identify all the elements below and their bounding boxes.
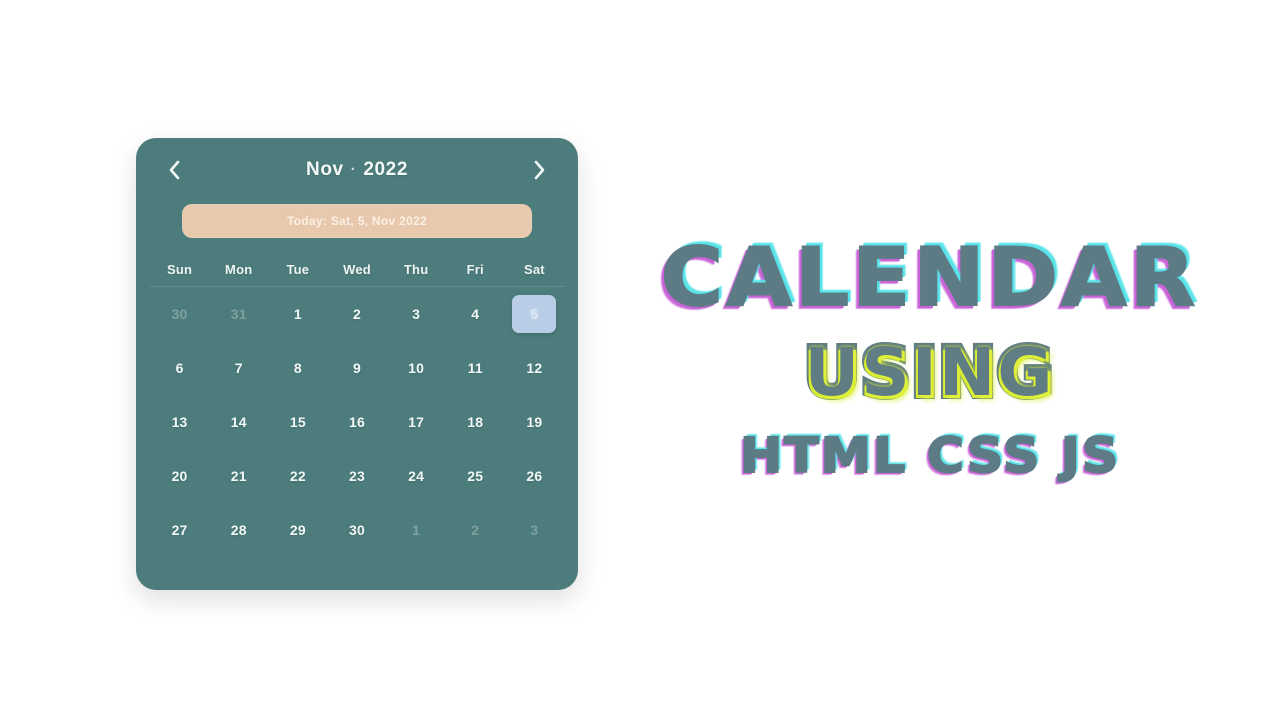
day-cell[interactable]: 24 (387, 449, 446, 503)
day-number: 31 (217, 295, 261, 333)
day-number: 29 (276, 511, 320, 549)
title-calendar: CALENDAR (661, 238, 1199, 318)
day-number: 16 (335, 403, 379, 441)
day-cell[interactable]: 12 (505, 341, 564, 395)
title-using: USING (805, 340, 1055, 406)
day-number: 24 (394, 457, 438, 495)
day-cell[interactable]: 9 (327, 341, 386, 395)
day-number: 5 (512, 295, 556, 333)
day-number: 19 (512, 403, 556, 441)
day-number: 23 (335, 457, 379, 495)
day-cell[interactable]: 15 (268, 395, 327, 449)
day-cell[interactable]: 30 (150, 287, 209, 341)
day-cell[interactable]: 3 (387, 287, 446, 341)
day-cell[interactable]: 22 (268, 449, 327, 503)
day-cell[interactable]: 1 (387, 503, 446, 557)
day-number: 17 (394, 403, 438, 441)
month-label: Nov (306, 159, 344, 181)
day-number: 22 (276, 457, 320, 495)
month-year-separator: · (351, 161, 357, 178)
title-tech-stack: HTML CSS JS (740, 432, 1120, 480)
day-cell[interactable]: 28 (209, 503, 268, 557)
prev-month-button[interactable] (160, 156, 188, 184)
day-number: 13 (158, 403, 202, 441)
day-number: 3 (394, 295, 438, 333)
day-cell[interactable]: 19 (505, 395, 564, 449)
day-number: 30 (158, 295, 202, 333)
day-cell[interactable]: 2 (327, 287, 386, 341)
day-number: 12 (512, 349, 556, 387)
day-number: 25 (453, 457, 497, 495)
day-number: 6 (158, 349, 202, 387)
day-cell[interactable]: 31 (209, 287, 268, 341)
day-cell[interactable]: 21 (209, 449, 268, 503)
day-number: 11 (453, 349, 497, 387)
weekday-fri: Fri (446, 262, 505, 277)
day-number: 4 (453, 295, 497, 333)
day-number: 3 (512, 511, 556, 549)
day-cell[interactable]: 26 (505, 449, 564, 503)
day-cell[interactable]: 3 (505, 503, 564, 557)
day-cell[interactable]: 27 (150, 503, 209, 557)
weekday-header-row: Sun Mon Tue Wed Thu Fri Sat (150, 262, 564, 287)
day-cell[interactable]: 30 (327, 503, 386, 557)
day-number: 30 (335, 511, 379, 549)
day-number: 8 (276, 349, 320, 387)
day-number: 2 (335, 295, 379, 333)
chevron-left-icon (167, 159, 181, 181)
day-number: 7 (217, 349, 261, 387)
day-number: 20 (158, 457, 202, 495)
day-cell[interactable]: 4 (446, 287, 505, 341)
day-cell[interactable]: 13 (150, 395, 209, 449)
day-cell[interactable]: 23 (327, 449, 386, 503)
day-cell[interactable]: 25 (446, 449, 505, 503)
title-block: CALENDAR USING HTML CSS JS (620, 238, 1240, 558)
day-cell[interactable]: 7 (209, 341, 268, 395)
calendar-card: Nov · 2022 Today: Sat, 5, Nov 2022 Sun M… (136, 138, 578, 590)
chevron-right-icon (533, 159, 547, 181)
weekday-mon: Mon (209, 262, 268, 277)
day-number: 18 (453, 403, 497, 441)
day-cell[interactable]: 18 (446, 395, 505, 449)
day-number: 1 (276, 295, 320, 333)
day-cell[interactable]: 11 (446, 341, 505, 395)
day-cell[interactable]: 2 (446, 503, 505, 557)
day-cell[interactable]: 20 (150, 449, 209, 503)
day-cell[interactable]: 29 (268, 503, 327, 557)
next-month-button[interactable] (526, 156, 554, 184)
month-year-label: Nov · 2022 (306, 159, 408, 181)
weekday-thu: Thu (387, 262, 446, 277)
weekday-tue: Tue (268, 262, 327, 277)
day-number: 26 (512, 457, 556, 495)
day-number: 9 (335, 349, 379, 387)
year-label: 2022 (363, 159, 408, 181)
day-cell[interactable]: 8 (268, 341, 327, 395)
day-number: 27 (158, 511, 202, 549)
weekday-sat: Sat (505, 262, 564, 277)
day-number: 21 (217, 457, 261, 495)
day-cell[interactable]: 1 (268, 287, 327, 341)
day-cell[interactable]: 16 (327, 395, 386, 449)
weekday-wed: Wed (327, 262, 386, 277)
days-grid: 3031123456789101112131415161718192021222… (150, 287, 564, 557)
day-cell[interactable]: 17 (387, 395, 446, 449)
day-number: 28 (217, 511, 261, 549)
day-number: 15 (276, 403, 320, 441)
weekday-sun: Sun (150, 262, 209, 277)
day-cell-today[interactable]: 5 (505, 287, 564, 341)
day-cell[interactable]: 14 (209, 395, 268, 449)
today-banner[interactable]: Today: Sat, 5, Nov 2022 (182, 204, 532, 238)
day-number: 10 (394, 349, 438, 387)
day-number: 14 (217, 403, 261, 441)
day-number: 1 (394, 511, 438, 549)
day-number: 2 (453, 511, 497, 549)
calendar-header: Nov · 2022 (136, 138, 578, 202)
day-cell[interactable]: 6 (150, 341, 209, 395)
page-root: Nov · 2022 Today: Sat, 5, Nov 2022 Sun M… (0, 0, 1280, 720)
day-cell[interactable]: 10 (387, 341, 446, 395)
